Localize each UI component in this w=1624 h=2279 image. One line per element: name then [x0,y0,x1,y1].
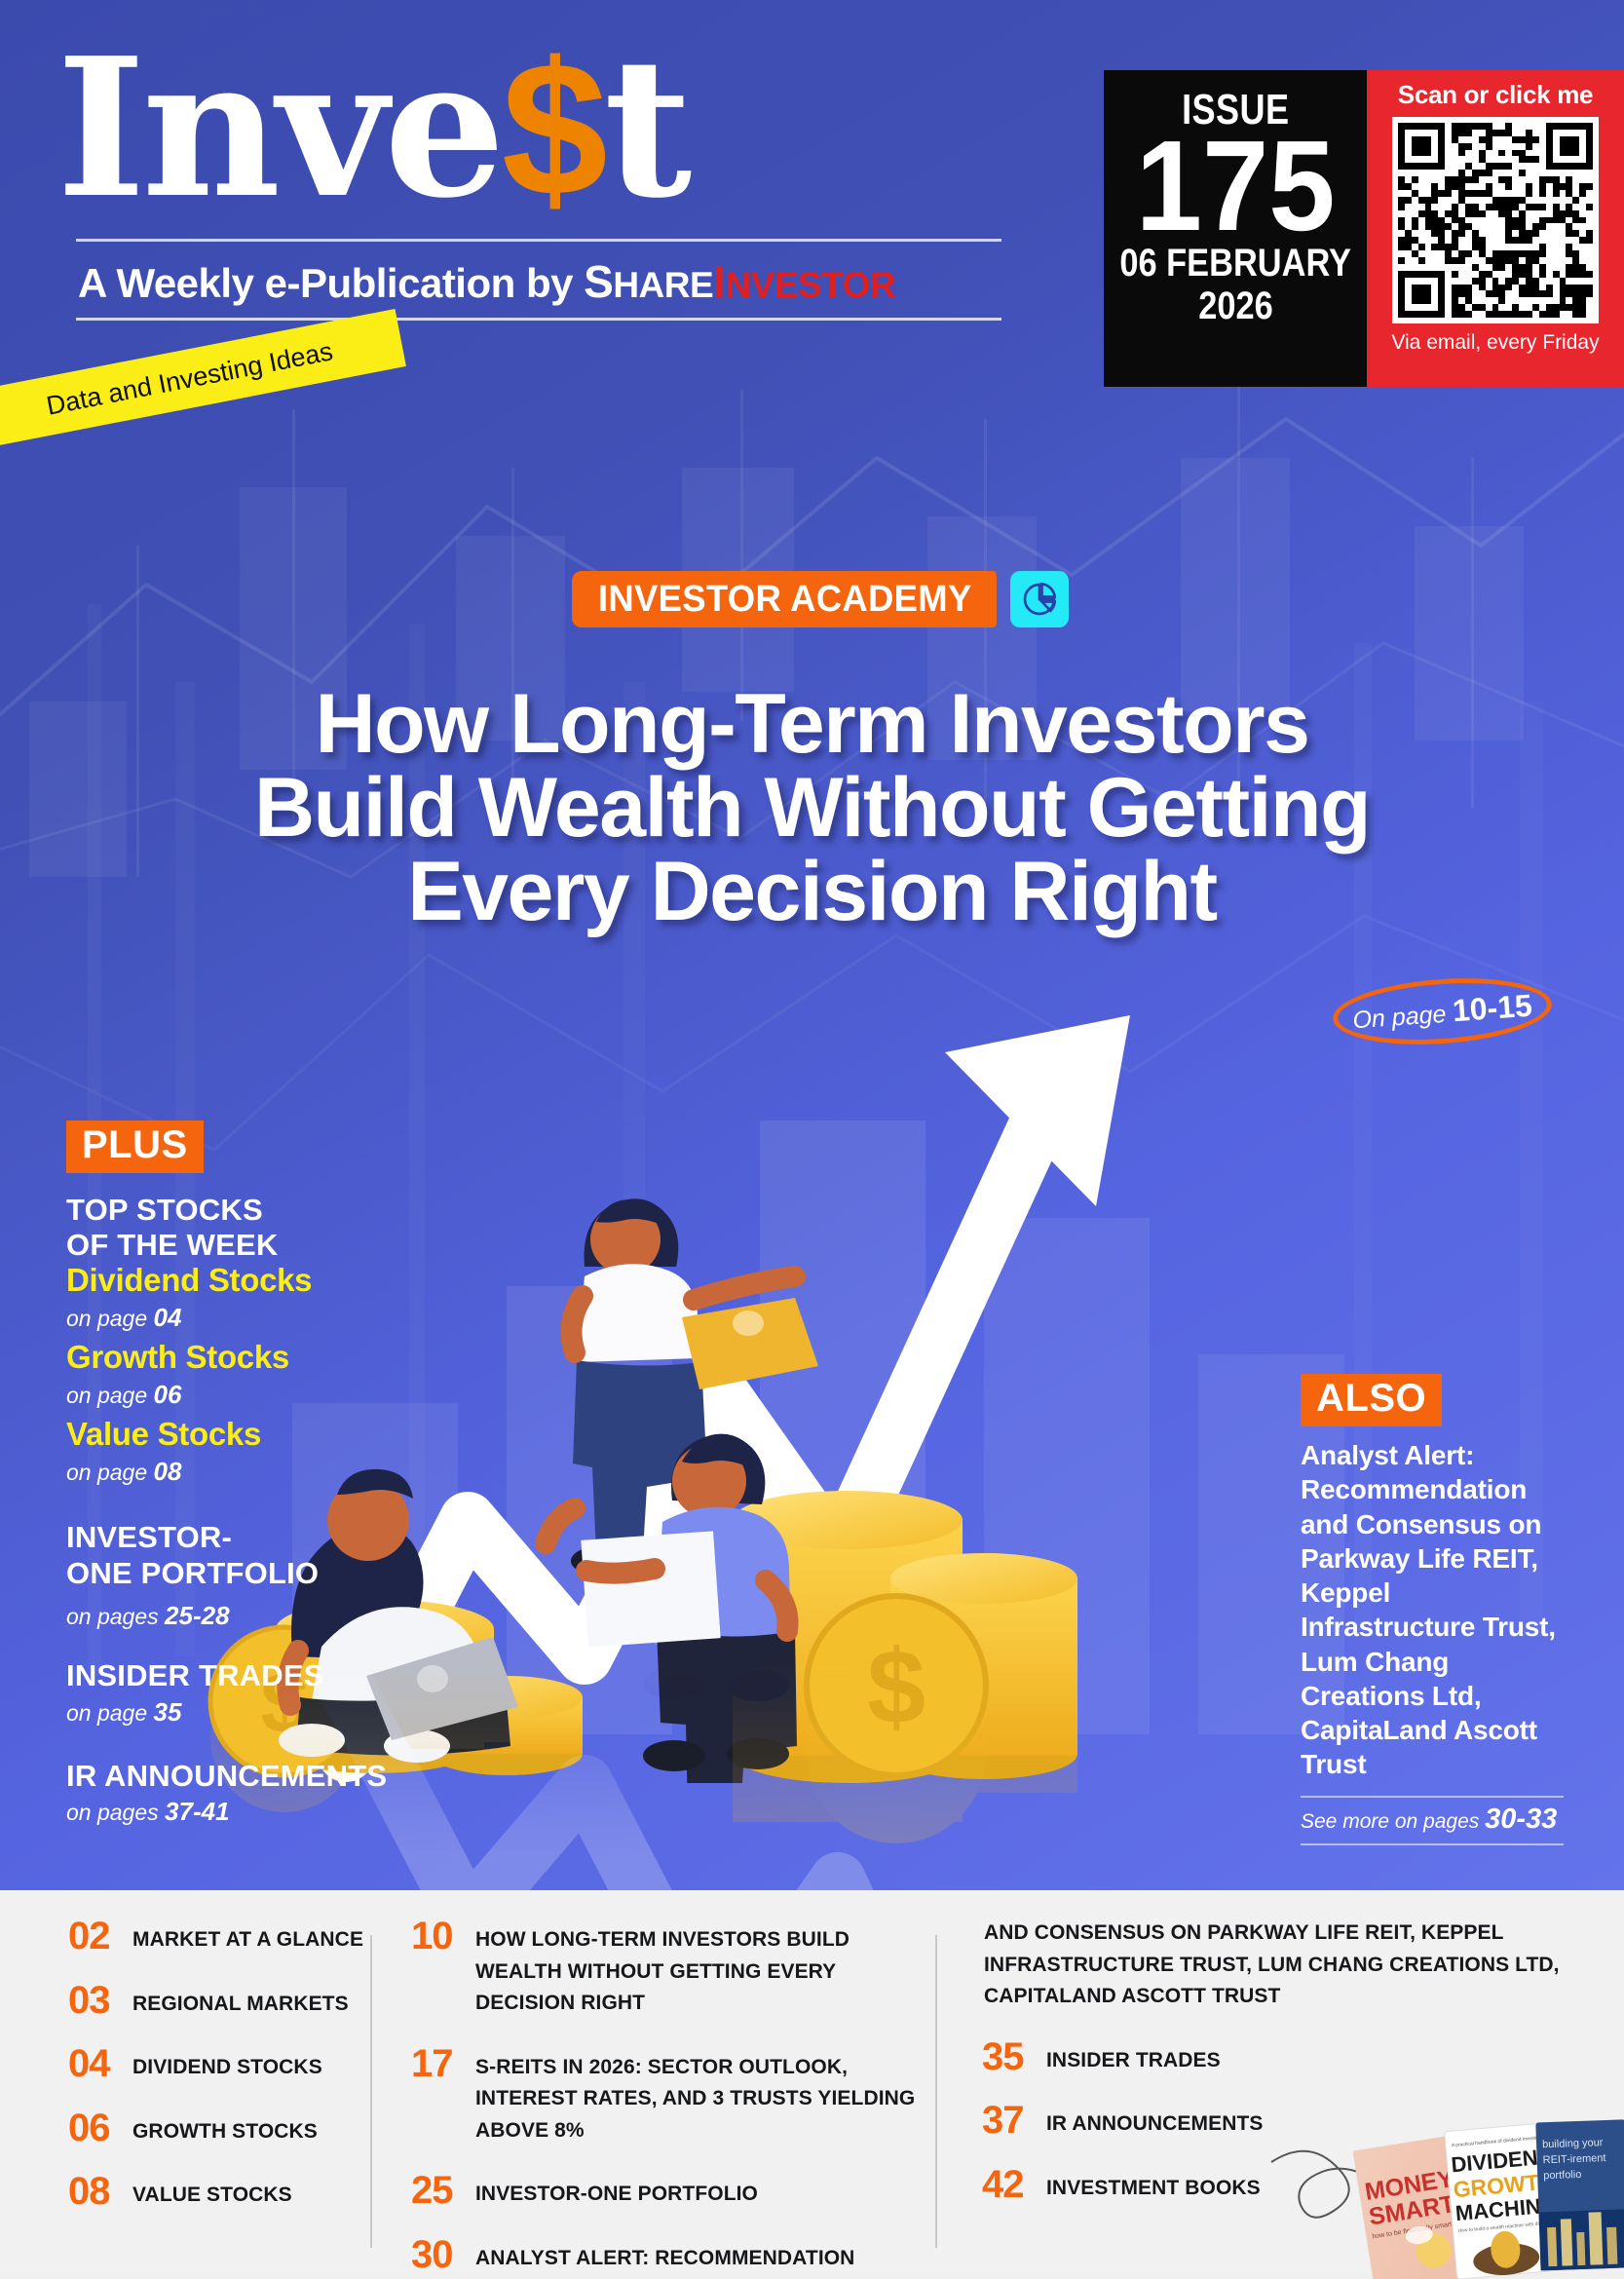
book3-title-line1: building your [1542,2137,1604,2150]
also-more-label: See more on pages [1301,1810,1485,1833]
also-body-text[interactable]: Analyst Alert: Recommendation and Consen… [1301,1438,1564,1782]
toc-entry[interactable]: 10 HOW LONG-TERM INVESTORS BUILD WEALTH … [411,1918,935,2020]
table-of-contents: 02 MARKET AT A GLANCE 03 REGIONAL MARKET… [0,1890,1624,2273]
pie-chart-icon [1010,571,1069,627]
toc-entry-title: INVESTOR-ONE PORTFOLIO [475,2172,758,2211]
toc-entry-title: HOW LONG-TERM INVESTORS BUILD WEALTH WIT… [475,1918,935,2020]
plus-item-portfolio-title[interactable]: INVESTOR- ONE PORTFOLIO [66,1520,456,1591]
headline-line-3: Every Decision Right [58,850,1566,933]
logo-text-post: t [604,17,689,241]
top-stocks-heading: TOP STOCKS OF THE WEEK [66,1193,456,1262]
toc-page-number: 17 [411,2045,475,2082]
headline-line-1: How Long-Term Investors [58,682,1566,766]
logo-dollar-sign: $ [502,22,604,236]
toc-entry[interactable]: 25 INVESTOR-ONE PORTFOLIO [411,2172,935,2211]
plus-badge: PLUS [66,1121,204,1173]
qr-code-icon[interactable] [1392,117,1599,323]
toc-column-2: 10 HOW LONG-TERM INVESTORS BUILD WEALTH … [370,1918,935,2273]
toc-entry[interactable]: 17 S-REITS IN 2026: SECTOR OUTLOOK, INTE… [411,2045,935,2147]
toc-entry-title: REGIONAL MARKETS [132,1982,349,2021]
toc-page-number: 10 [411,1918,475,1955]
toc-entry[interactable]: 04 DIVIDEND STOCKS [68,2045,370,2084]
toc-entry[interactable]: 08 VALUE STOCKS [68,2173,370,2212]
plus-item-dividend-page: on page 04 [66,1303,456,1333]
page-range: 10-15 [1452,987,1533,1028]
toc-entry-title: MARKET AT A GLANCE [132,1918,363,1956]
investor-cap: I [713,256,725,307]
toc-entry[interactable]: 06 GROWTH STOCKS [68,2109,370,2148]
also-more-pages: 30-33 [1485,1804,1557,1835]
hero-section: Inve$t A Weekly e-Publication by SHAREIN… [0,0,1624,1890]
also-badge: ALSO [1301,1374,1442,1426]
masthead-rule-bottom [76,318,1001,321]
ir-page-number: 37-41 [165,1797,230,1826]
investor-academy-label: INVESTOR ACADEMY [572,571,996,627]
plus-growth-page-number: 06 [154,1380,182,1409]
plus-dividend-page-number: 04 [154,1303,182,1332]
tagline-prefix: A Weekly e-Publication by [78,260,584,306]
portfolio-page-label: on pages [66,1604,165,1629]
investor-rest: NVESTOR [725,265,895,305]
plus-growth-page-label: on page [66,1383,154,1408]
qr-call-to-action: Scan or click me [1398,80,1593,110]
toc-page-number: 02 [68,1918,132,1955]
ir-page-label: on pages [66,1800,165,1825]
toc-entry-title: IR ANNOUNCEMENTS [1046,2102,1264,2141]
plus-section: PLUS TOP STOCKS OF THE WEEK Dividend Sto… [66,1121,456,1833]
toc-column-1: 02 MARKET AT A GLANCE 03 REGIONAL MARKET… [39,1918,370,2273]
share-rest: HARE [613,265,713,305]
plus-item-value-page: on page 08 [66,1457,456,1487]
logo-text-pre: Inve [57,17,502,241]
also-section: ALSO Analyst Alert: Recommendation and C… [1301,1374,1564,1845]
toc-page-number: 42 [982,2166,1046,2203]
plus-value-page-label: on page [66,1460,154,1485]
toc-entry-title: INSIDER TRADES [1046,2038,1221,2077]
top-stocks-line-1: TOP STOCKS [66,1193,263,1227]
masthead-tagline: A Weekly e-Publication by SHAREINVESTOR [78,255,1040,308]
toc-page-number: 08 [68,2173,132,2210]
issue-date: 06 FEBRUARY [1119,243,1351,285]
toc-entry-title: ANALYST ALERT: RECOMMENDATION [475,2236,854,2275]
toc-page-number: 30 [411,2236,475,2273]
plus-item-insider-title[interactable]: INSIDER TRADES [66,1658,456,1694]
also-page-reference: See more on pages 30-33 [1301,1804,1564,1836]
plus-item-dividend-title[interactable]: Dividend Stocks [66,1262,456,1300]
also-divider-top [1301,1796,1564,1798]
cover-headline: How Long-Term Investors Build Wealth Wit… [0,682,1624,933]
plus-item-ir-title[interactable]: IR ANNOUNCEMENTS [66,1759,456,1795]
toc-entry-title: VALUE STOCKS [132,2173,292,2212]
toc-page-number: 03 [68,1982,132,2019]
investment-books-image[interactable]: MONEY SMART how to be financially smart … [1345,2104,1624,2279]
toc-entry-continuation: AND CONSENSUS ON PARKWAY LIFE REIT, KEPP… [982,1918,1578,2013]
page-prefix: On page [1352,1000,1454,1034]
qr-frequency-note: Via email, every Friday [1391,331,1599,355]
plus-item-growth-title[interactable]: Growth Stocks [66,1339,456,1377]
toc-divider-1 [370,1935,372,2248]
magazine-cover: Inve$t A Weekly e-Publication by SHAREIN… [0,0,1624,2273]
issue-year: 2026 [1198,285,1273,327]
top-stocks-line-2: OF THE WEEK [66,1228,278,1262]
share-cap: S [584,256,613,307]
toc-page-number: 06 [68,2109,132,2146]
plus-value-page-number: 08 [154,1457,182,1486]
toc-entry-title: DIVIDEND STOCKS [132,2045,322,2084]
book3-title-line2: REIT-irement [1542,2152,1605,2166]
toc-page-number: 37 [982,2102,1046,2139]
masthead: Inve$t A Weekly e-Publication by SHAREIN… [57,35,1040,321]
insider-page-number: 35 [154,1697,182,1727]
headline-line-2: Build Wealth Without Getting [58,766,1566,850]
toc-entry-title: S-REITS IN 2026: SECTOR OUTLOOK, INTERES… [475,2045,935,2147]
toc-divider-2 [935,1935,937,2248]
portfolio-line-2: ONE PORTFOLIO [66,1556,319,1590]
toc-entry-title: GROWTH STOCKS [132,2109,318,2148]
plus-item-insider-page: on page 35 [66,1697,456,1728]
portfolio-page-number: 25-28 [165,1601,230,1630]
toc-entry[interactable]: 02 MARKET AT A GLANCE [68,1918,370,1956]
toc-page-number: 35 [982,2038,1046,2075]
plus-item-ir-page: on pages 37-41 [66,1797,456,1827]
investor-academy-badge[interactable]: INVESTOR ACADEMY [563,571,1069,627]
portfolio-line-1: INVESTOR- [66,1520,232,1554]
plus-item-portfolio-page: on pages 25-28 [66,1601,456,1631]
toc-entry[interactable]: 30 ANALYST ALERT: RECOMMENDATION [411,2236,935,2275]
toc-page-number: 25 [411,2172,475,2209]
toc-entry[interactable]: 35 INSIDER TRADES [982,2038,1578,2077]
insider-page-label: on page [66,1700,154,1726]
plus-item-value-title[interactable]: Value Stocks [66,1416,456,1454]
qr-subscribe-box[interactable]: Scan or click me Via email, every Friday [1367,70,1624,387]
plus-dividend-page-label: on page [66,1306,154,1331]
toc-entry-title: INVESTMENT BOOKS [1046,2166,1261,2205]
publication-logo: Inve$t [57,35,1040,223]
plus-item-growth-page: on page 06 [66,1380,456,1410]
also-divider-bottom [1301,1843,1564,1845]
issue-number: 175 [1136,133,1336,241]
book3-title-line3: portfolio [1543,2169,1582,2182]
toc-entry[interactable]: 03 REGIONAL MARKETS [68,1982,370,2021]
issue-info-box: ISSUE 175 06 FEBRUARY 2026 [1104,70,1367,387]
toc-page-number: 04 [68,2045,132,2082]
